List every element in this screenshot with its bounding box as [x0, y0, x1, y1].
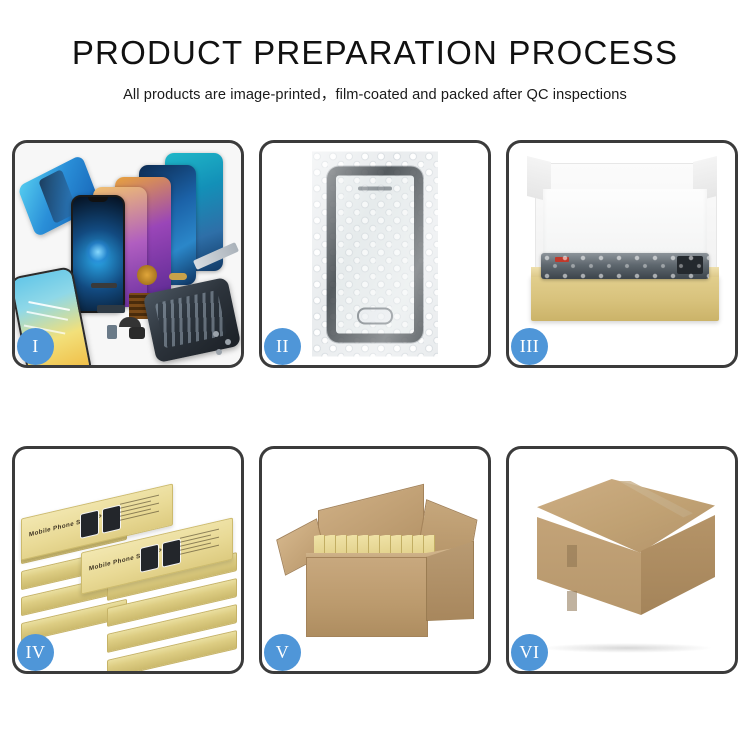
step-badge-1: I: [17, 328, 54, 365]
box-phone-graphic-4: [162, 538, 181, 567]
process-step-3: III: [506, 140, 738, 368]
process-step-2: II: [259, 140, 491, 368]
step-badge-2: II: [264, 328, 301, 365]
phone-notch-icon: [88, 197, 108, 202]
part-camera: [107, 325, 117, 339]
step-5-image: [262, 449, 488, 671]
step-badge-3: III: [511, 328, 548, 365]
open-carton: [280, 483, 474, 645]
carton-seam-top: [567, 545, 577, 567]
box-phone-graphic-3: [140, 544, 159, 573]
carton-seam-bottom: [567, 591, 577, 611]
red-label-icon: [555, 257, 569, 262]
page-subtitle: All products are image-printed，film-coat…: [0, 83, 750, 104]
kraft-box-tray: [531, 275, 719, 321]
earpiece-slot-icon: [358, 186, 392, 190]
part-speaker: [129, 327, 145, 339]
wallpaper-glow: [85, 239, 111, 265]
step-badge-4: IV: [17, 634, 54, 671]
step-1-image: [15, 143, 241, 365]
packed-screen: [541, 253, 709, 279]
box-phone-graphic-2: [102, 504, 121, 533]
home-button-icon: [357, 307, 393, 324]
step-badge-6: VI: [511, 634, 548, 671]
step-4-image: Mobile Phone Spare Parts Mobile Phone Sp…: [15, 449, 241, 671]
box-phone-graphic-1: [80, 510, 99, 539]
process-step-6: VI: [506, 446, 738, 674]
part-flex-cable-1: [97, 305, 125, 313]
process-grid: I II: [12, 140, 738, 674]
part-coil-icon: [137, 265, 157, 285]
carton-shadow: [541, 643, 713, 653]
sealed-carton: [531, 479, 721, 649]
process-step-1: I: [12, 140, 244, 368]
box-stack: Mobile Phone Spare Parts Mobile Phone Sp…: [19, 471, 239, 661]
bubble-wrap-sheet: [312, 152, 438, 357]
screen-connector: [677, 256, 703, 274]
process-step-5: V: [259, 446, 491, 674]
box-spec-lines-2: [180, 528, 224, 564]
wrapped-screen-assembly: [327, 166, 423, 342]
part-strip: [91, 283, 117, 288]
step-3-image: [509, 143, 735, 365]
carton-front-face: [306, 557, 428, 637]
infographic-page: PRODUCT PREPARATION PROCESS All products…: [0, 0, 750, 750]
page-title: PRODUCT PREPARATION PROCESS: [0, 34, 750, 72]
step-badge-5: V: [264, 634, 301, 671]
header: PRODUCT PREPARATION PROCESS All products…: [0, 0, 750, 104]
screws-group: [211, 329, 237, 359]
part-button: [169, 273, 187, 280]
step-2-image: [262, 143, 488, 365]
process-step-4: Mobile Phone Spare Parts Mobile Phone Sp…: [12, 446, 244, 674]
box-spec-lines-1: [120, 494, 164, 530]
step-6-image: [509, 449, 735, 671]
